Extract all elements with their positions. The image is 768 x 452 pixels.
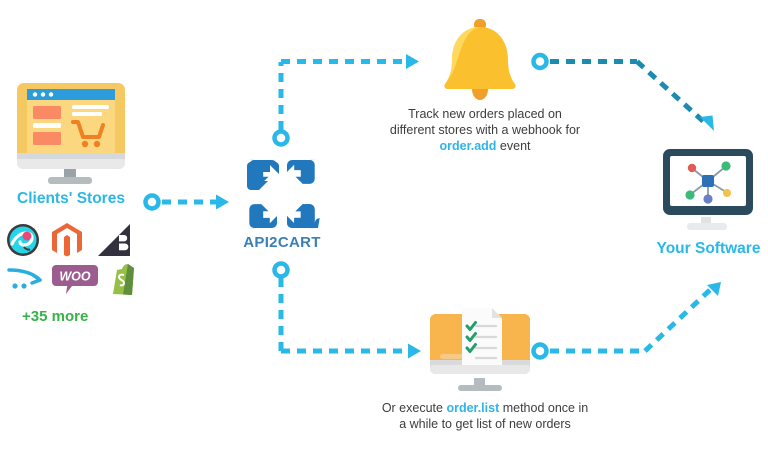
platform-logos-row-1: [6, 222, 132, 258]
your-software-label: Your Software: [636, 240, 768, 258]
shopify-icon: [108, 262, 138, 296]
connection-polling-to-software: [534, 282, 722, 358]
magento-icon: [50, 222, 84, 258]
prestashop-icon: [6, 223, 40, 257]
connection-stores-to-api2cart: [146, 195, 230, 210]
order-add-method: order.add: [439, 139, 496, 153]
webhook-caption-line3: order.add event: [356, 138, 614, 154]
clients-stores-label: Clients' Stores: [0, 190, 142, 208]
polling-caption-line2: a while to get list of new orders: [356, 416, 614, 432]
api2cart-label: API2CART: [222, 234, 342, 251]
platform-logos-row-2: WOO: [6, 262, 138, 296]
webhook-caption-line2: different stores with a webhook for: [356, 122, 614, 138]
bigcommerce-icon: [94, 223, 132, 257]
opencart-icon: [6, 264, 44, 294]
polling-caption: Or execute order.list method once in a w…: [356, 400, 614, 432]
connection-api2cart-to-polling: [275, 264, 422, 359]
checklist-monitor-icon: [424, 306, 536, 394]
bell-icon: [441, 18, 519, 102]
api2cart-logo-icon: [239, 158, 325, 230]
webhook-caption-line1: Track new orders placed on: [356, 106, 614, 122]
storefront-monitor-icon: [12, 75, 130, 187]
polling-caption-suffix: method once in: [499, 401, 588, 415]
polling-caption-prefix: Or execute: [382, 401, 447, 415]
polling-caption-line1: Or execute order.list method once in: [356, 400, 614, 416]
order-list-method: order.list: [446, 401, 499, 415]
woocommerce-icon: WOO: [52, 263, 98, 295]
network-monitor-icon: [659, 145, 759, 237]
diagram-canvas: Clients' Stores: [0, 0, 768, 452]
svg-text:WOO: WOO: [59, 270, 91, 284]
webhook-caption: Track new orders placed on different sto…: [356, 106, 614, 154]
more-platforms-label: +35 more: [22, 308, 88, 325]
webhook-caption-line3-suffix: event: [496, 139, 530, 153]
